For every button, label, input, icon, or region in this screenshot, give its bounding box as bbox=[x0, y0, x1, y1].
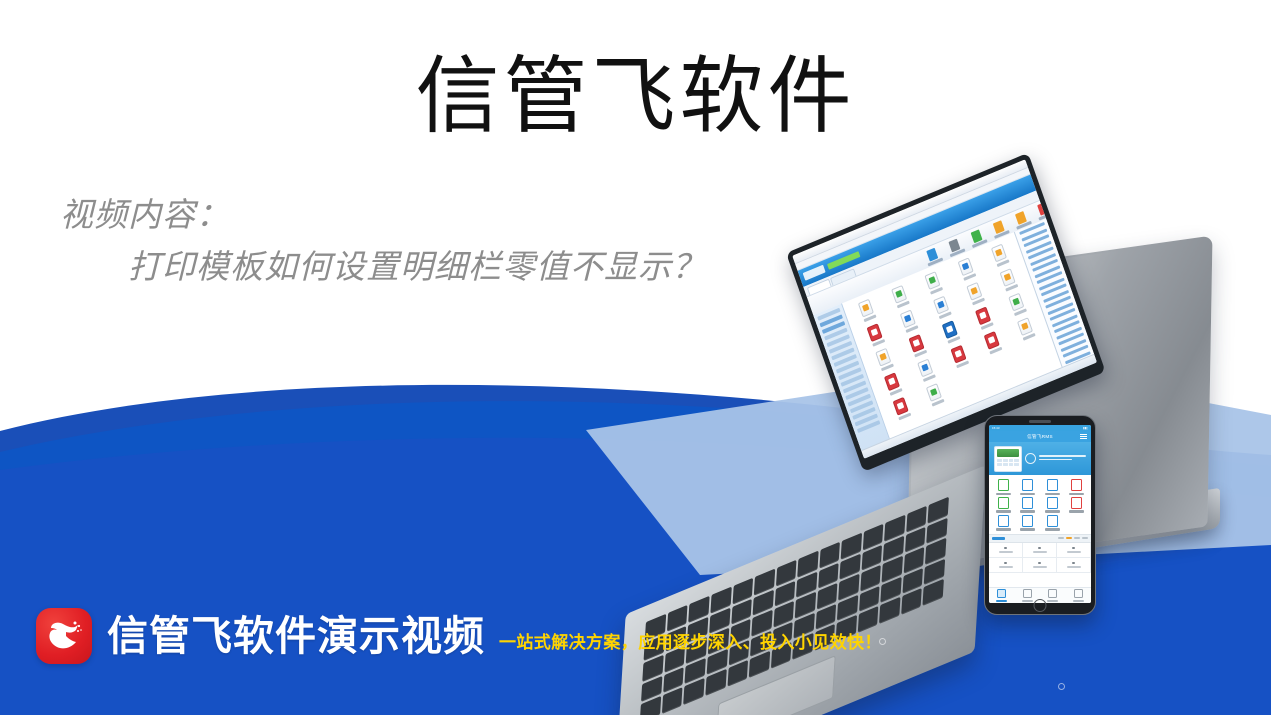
phone-grid-item[interactable] bbox=[1016, 479, 1041, 495]
front-laptop bbox=[590, 253, 1010, 633]
phone-function-grid bbox=[989, 475, 1091, 534]
phone-stat-cell bbox=[989, 558, 1023, 573]
phone-grid-item[interactable] bbox=[1040, 515, 1065, 531]
brand-title-text: 信管飞软件演示视频 bbox=[107, 613, 485, 659]
bird-mark-icon bbox=[45, 619, 83, 653]
phone-filter-month[interactable] bbox=[1066, 537, 1072, 540]
phone-filter-all[interactable] bbox=[1082, 537, 1088, 540]
phone-promo-banner bbox=[989, 442, 1091, 475]
phone-app-header: 信管飞RMS bbox=[989, 431, 1091, 442]
phone-grid-item[interactable] bbox=[991, 479, 1016, 495]
phone-bottom-nav bbox=[989, 587, 1091, 603]
phone-stat-cell bbox=[1023, 543, 1057, 558]
phone-grid-item[interactable] bbox=[1016, 515, 1041, 531]
phone-status-icons: ▮▮▯ bbox=[1083, 426, 1088, 430]
phone-nav-reports[interactable] bbox=[1040, 588, 1066, 603]
slide-title: 信管飞软件 bbox=[0, 52, 1271, 144]
phone-section-bar bbox=[989, 534, 1091, 543]
phone-app-title: 信管飞RMS bbox=[1027, 434, 1053, 440]
phone-status-time: 15:43 bbox=[992, 426, 1000, 430]
phone-filter-today[interactable] bbox=[1058, 537, 1064, 540]
phone-stat-cell bbox=[1023, 558, 1057, 573]
phone-banner-text bbox=[1039, 455, 1086, 461]
subtitle-label: 视频内容： bbox=[60, 193, 706, 237]
xinguanfei-bird-logo-icon bbox=[36, 608, 92, 664]
phone-banner-sync-icon bbox=[1025, 453, 1036, 464]
phone-filter-year[interactable] bbox=[1074, 537, 1080, 540]
phone-grid-item[interactable] bbox=[1040, 479, 1065, 495]
phone-stats-table bbox=[989, 543, 1091, 573]
phone-screen: 15:43 ▮▮▯ 信管飞RMS bbox=[989, 425, 1091, 603]
phone-grid-item[interactable] bbox=[1065, 479, 1090, 495]
phone-nav-profile[interactable] bbox=[1066, 588, 1092, 603]
decorative-dot bbox=[1058, 683, 1065, 690]
phone-grid-item[interactable] bbox=[1016, 497, 1041, 513]
phone-nav-documents[interactable] bbox=[1015, 588, 1041, 603]
device-mockup-group: 15:43 ▮▮▯ 信管飞RMS bbox=[580, 245, 1271, 645]
phone-section-title bbox=[992, 537, 1005, 540]
phone-nav-workbench[interactable] bbox=[989, 588, 1015, 603]
decorative-dot bbox=[879, 638, 886, 645]
phone-grid-item[interactable] bbox=[991, 497, 1016, 513]
phone-banner-device-icon bbox=[994, 446, 1022, 472]
presentation-slide: 信管飞软件 视频内容： 打印模板如何设置明细栏零值不显示？ bbox=[0, 0, 1271, 715]
brand-tagline-text: 一站式解决方案，应用逐步深入、投入小见效快！ bbox=[499, 632, 882, 654]
phone-stat-cell bbox=[1057, 558, 1091, 573]
phone-stat-cell bbox=[1057, 543, 1091, 558]
phone-grid-item[interactable] bbox=[991, 515, 1016, 531]
smartphone-mockup: 15:43 ▮▮▯ 信管飞RMS bbox=[984, 415, 1096, 615]
phone-grid-item[interactable] bbox=[1040, 497, 1065, 513]
bottom-brand-banner: 信管飞软件演示视频 一站式解决方案，应用逐步深入、投入小见效快！ bbox=[36, 608, 882, 664]
phone-stat-cell bbox=[989, 543, 1023, 558]
phone-grid-item[interactable] bbox=[1065, 497, 1090, 513]
hamburger-menu-icon[interactable] bbox=[1080, 434, 1087, 439]
